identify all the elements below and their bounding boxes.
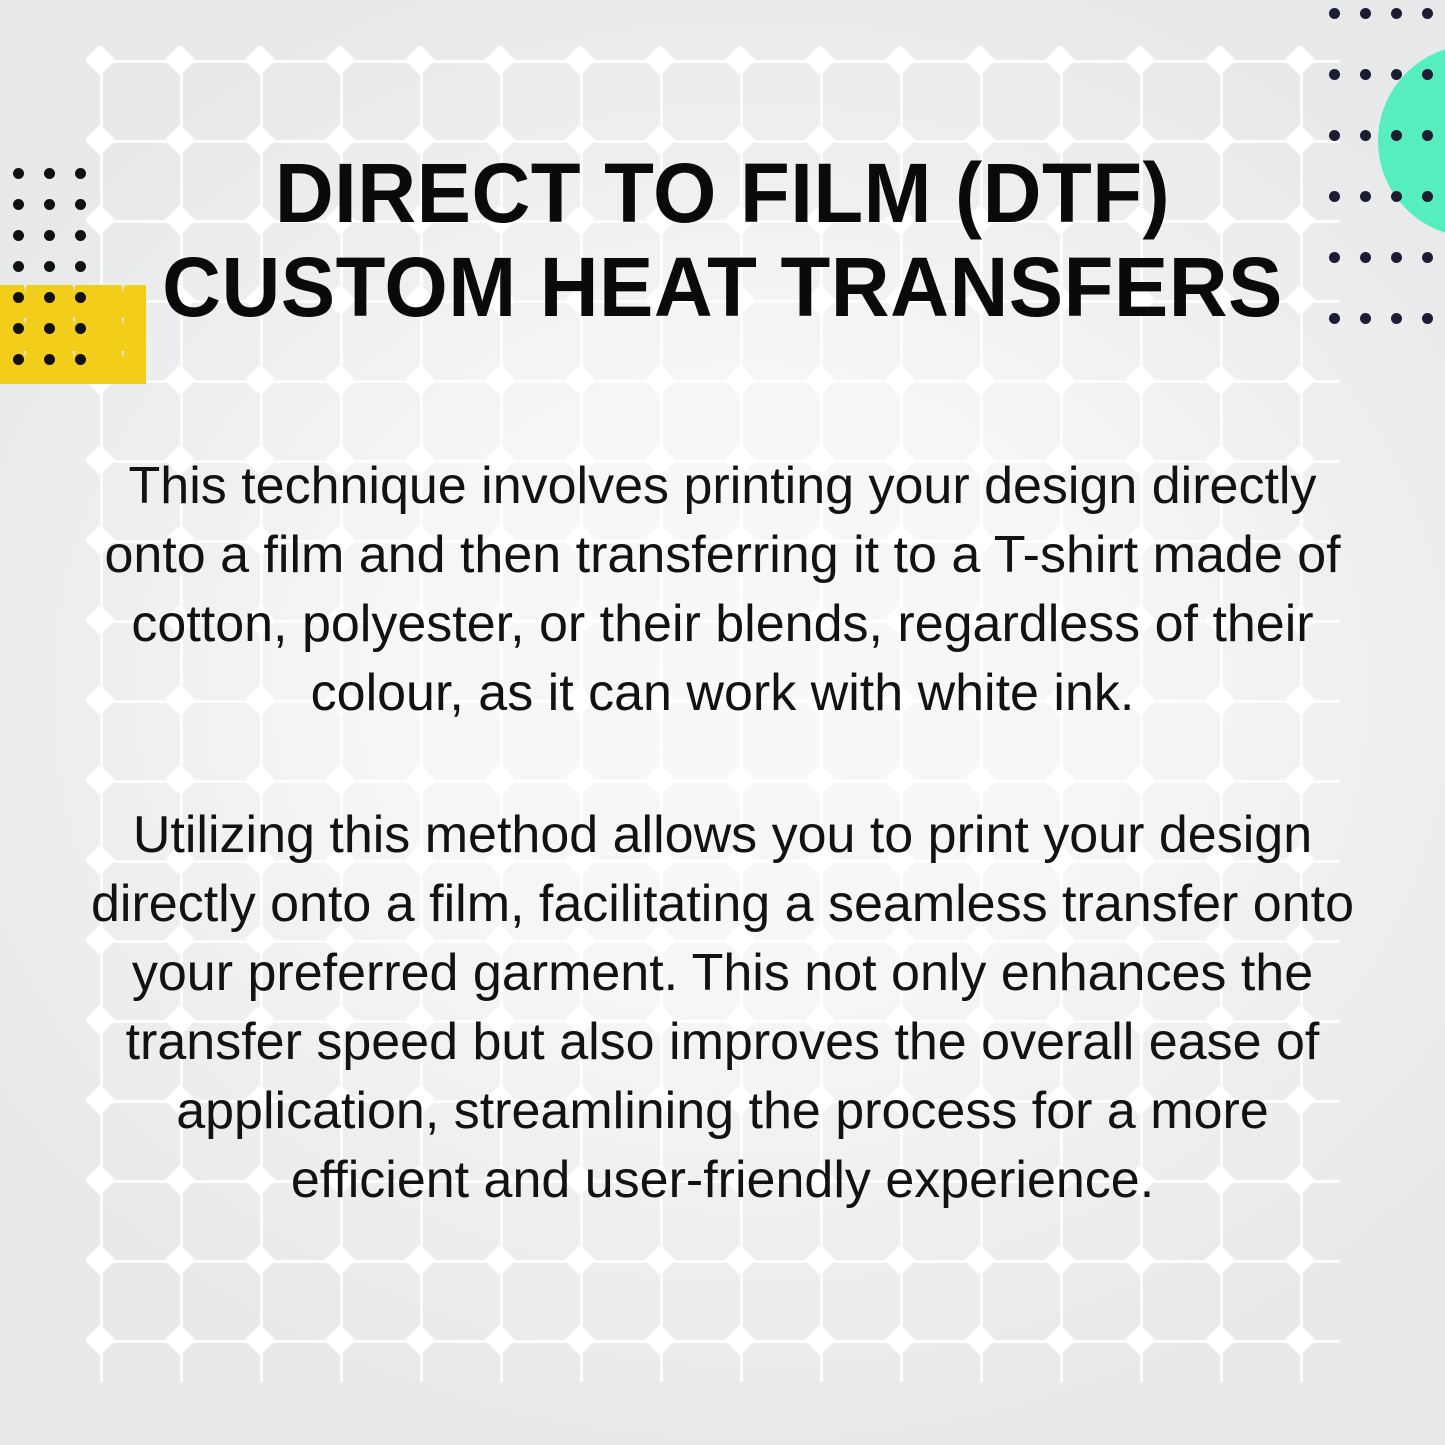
poster-content: DIRECT TO FILM (DTF) CUSTOM HEAT TRANSFE… [0, 0, 1445, 1445]
poster-canvas: DIRECT TO FILM (DTF) CUSTOM HEAT TRANSFE… [0, 0, 1445, 1445]
body-copy: This technique involves printing your de… [86, 452, 1359, 1215]
paragraph-2: Utilizing this method allows you to prin… [86, 801, 1359, 1215]
paragraph-1: This technique involves printing your de… [86, 452, 1359, 728]
page-title: DIRECT TO FILM (DTF) CUSTOM HEAT TRANSFE… [22, 146, 1424, 334]
title-line-2: CUSTOM HEAT TRANSFERS [22, 240, 1424, 334]
title-line-1: DIRECT TO FILM (DTF) [22, 146, 1424, 240]
